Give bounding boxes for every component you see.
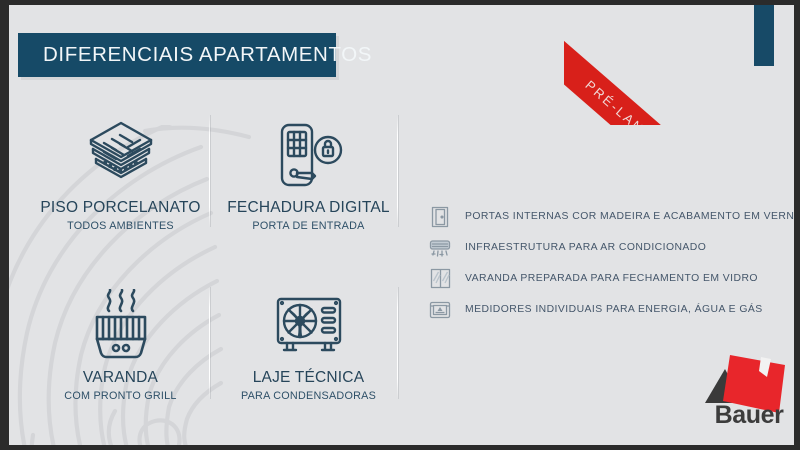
meter-icon [427,298,453,322]
divider-vertical [397,115,398,227]
stacked-tiles-icon [83,119,159,193]
feature-subtitle: COM PRONTO GRILL [33,390,208,402]
list-item-label: MEDIDORES INDIVIDUAIS PARA ENERGIA, ÁGUA… [465,304,763,315]
feature-icon-wrap [221,117,396,195]
divider-vertical [397,287,398,399]
feature-piso-porcelanato: PISO PORCELANATO TODOS AMBIENTES [33,117,208,232]
list-item: MEDIDORES INDIVIDUAIS PARA ENERGIA, ÁGUA… [427,294,787,325]
ribbon-label: PRÉ-LANÇAMENTO [582,77,709,125]
feature-fechadura-digital: FECHADURA DIGITAL PORTA DE ENTRADA [221,117,396,232]
feature-subtitle: PORTA DE ENTRADA [221,220,396,232]
feature-title: VARANDA [33,369,208,387]
feature-title: LAJE TÉCNICA [221,369,396,387]
air-conditioner-condenser-icon [271,293,347,359]
pre-launch-ribbon: PRÉ-LANÇAMENTO [564,13,781,125]
feature-icon-wrap [221,287,396,365]
feature-varanda: VARANDA COM PRONTO GRILL [33,287,208,402]
feature-subtitle: TODOS AMBIENTES [33,220,208,232]
bauer-wordmark: Bauer [697,401,794,430]
ribbon-area: PRÉ-LANÇAMENTO [564,5,794,125]
feature-icon-wrap [33,287,208,365]
divider-vertical [209,115,210,227]
list-item-label: VARANDA PREPARADA PARA FECHAMENTO EM VID… [465,273,758,284]
amenities-list: PORTAS INTERNAS COR MADEIRA E ACABAMENTO… [427,201,787,325]
ac-split-icon [427,236,453,260]
slide-canvas: DIFERENCIAIS APARTAMENTOS PRÉ-LANÇAMENTO [9,5,794,445]
slide-title-banner: DIFERENCIAIS APARTAMENTOS [18,33,336,77]
grill-icon [85,289,157,363]
feature-subtitle: PARA CONDENSADORAS [221,390,396,402]
list-item-label: INFRAESTRUTURA PARA AR CONDICIONADO [465,242,706,253]
divider-vertical [209,287,210,399]
feature-laje-tecnica: LAJE TÉCNICA PARA CONDENSADORAS [221,287,396,402]
list-item: PORTAS INTERNAS COR MADEIRA E ACABAMENTO… [427,201,787,232]
glass-window-icon [427,267,453,291]
list-item-label: PORTAS INTERNAS COR MADEIRA E ACABAMENTO… [465,211,794,222]
feature-title: PISO PORCELANATO [33,199,208,217]
presentation-slide: DIFERENCIAIS APARTAMENTOS PRÉ-LANÇAMENTO [0,0,800,450]
feature-title: FECHADURA DIGITAL [221,199,396,217]
keypad-lock-icon [272,119,346,193]
feature-icon-wrap [33,117,208,195]
list-item: VARANDA PREPARADA PARA FECHAMENTO EM VID… [427,263,787,294]
door-icon [427,205,453,229]
list-item: INFRAESTRUTURA PARA AR CONDICIONADO [427,232,787,263]
page-title: DIFERENCIAIS APARTAMENTOS [18,43,372,67]
